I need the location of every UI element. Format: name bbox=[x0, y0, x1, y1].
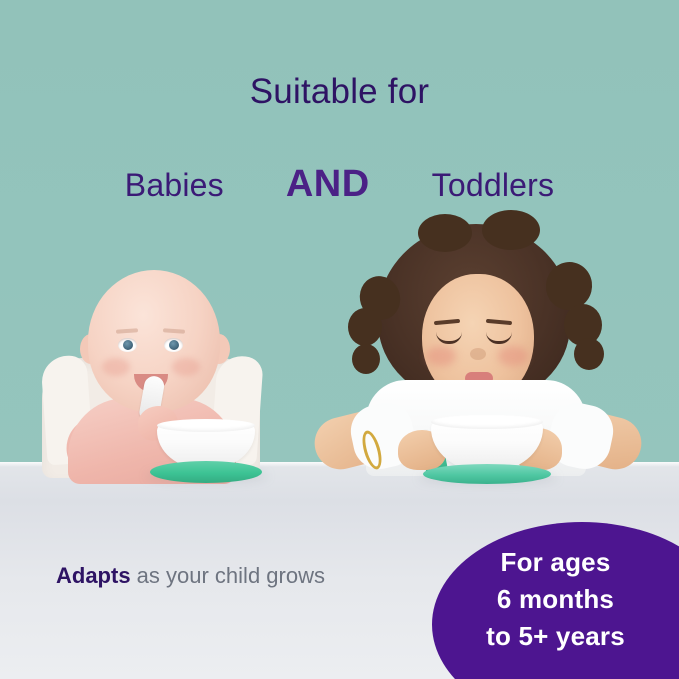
age-range-badge-text: For ages 6 months to 5+ years bbox=[432, 544, 679, 655]
baby-bowl-rim bbox=[157, 419, 255, 432]
age-range-badge: For ages 6 months to 5+ years bbox=[432, 522, 679, 679]
toddler-cheek-right bbox=[498, 346, 528, 366]
age-badge-line-1: For ages bbox=[432, 544, 679, 581]
toddler-bowl-rim bbox=[431, 415, 543, 429]
toddler-cheek-left bbox=[426, 346, 456, 366]
subheadline-conjunction: AND bbox=[286, 163, 370, 206]
subheadline: Babies AND Toddlers bbox=[0, 163, 679, 206]
toddler-nose bbox=[470, 348, 486, 360]
toddler-hair-curl bbox=[348, 308, 382, 346]
baby-eye-right bbox=[164, 338, 183, 352]
baby-bowl bbox=[150, 423, 262, 481]
headline: Suitable for bbox=[0, 72, 679, 112]
toddler-hair-curl bbox=[352, 344, 380, 374]
subheadline-toddlers: Toddlers bbox=[432, 167, 555, 204]
baby-cheek-left bbox=[102, 358, 130, 376]
toddler-hair-curl bbox=[482, 210, 540, 250]
age-badge-line-3: to 5+ years bbox=[432, 618, 679, 655]
baby-bowl-suction-base bbox=[150, 461, 262, 483]
adapts-caption-strong: Adapts bbox=[56, 563, 131, 588]
product-feature-graphic: Suitable for Babies AND Toddlers Adapts … bbox=[0, 0, 679, 679]
toddler-hair-curl bbox=[418, 214, 472, 252]
age-badge-line-2: 6 months bbox=[432, 581, 679, 618]
baby-eye-left bbox=[118, 338, 137, 352]
toddler-hair-curl bbox=[574, 338, 604, 370]
baby-cheek-right bbox=[172, 358, 200, 376]
adapts-caption-light: as your child grows bbox=[131, 563, 325, 588]
toddler-bowl-suction-base bbox=[423, 464, 551, 484]
subheadline-babies: Babies bbox=[125, 167, 224, 204]
toddler-bowl bbox=[423, 420, 551, 486]
adapts-caption: Adapts as your child grows bbox=[56, 563, 325, 589]
